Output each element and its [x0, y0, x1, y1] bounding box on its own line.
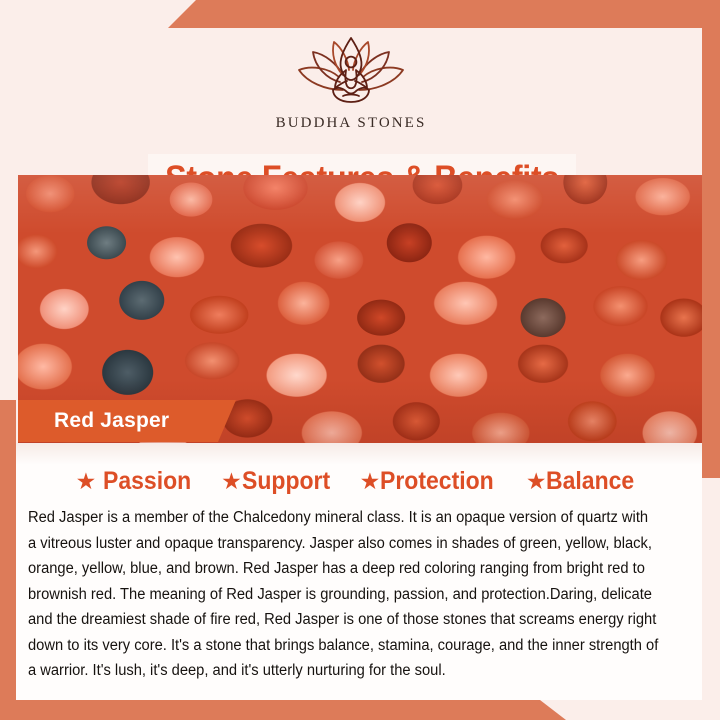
star-icon: ★ [76, 470, 97, 493]
content-section: ★ Passion ★ Support ★ Protection ★ Balan… [16, 443, 702, 700]
benefit-passion: ★ Passion [76, 467, 200, 496]
benefit-protection: ★ Protection [360, 467, 504, 496]
content-top-fade [16, 443, 702, 465]
star-icon: ★ [221, 470, 242, 493]
infographic-page: BUDDHA STONES Stone Features & Benefits … [0, 0, 720, 720]
hero-stone-photo: Red Jasper [18, 175, 702, 443]
benefits-row: ★ Passion ★ Support ★ Protection ★ Balan… [16, 467, 702, 496]
benefit-label: Balance [546, 467, 634, 496]
benefit-label: Support [242, 467, 330, 496]
benefit-balance: ★ Balance [526, 467, 643, 496]
stone-name-label: Red Jasper [54, 409, 169, 433]
brand-logo: BUDDHA STONES [0, 30, 702, 132]
star-icon: ★ [526, 470, 547, 493]
stone-description: Red Jasper is a member of the Chalcedony… [28, 505, 660, 684]
frame-top-bar [0, 0, 720, 28]
benefit-support: ★ Support [221, 467, 337, 496]
stone-name-tag: Red Jasper [18, 400, 236, 442]
frame-bottom-bar [0, 700, 720, 720]
benefit-label: Protection [380, 467, 494, 496]
brand-name: BUDDHA STONES [276, 115, 427, 132]
header-section: BUDDHA STONES Stone Features & Benefits [0, 28, 702, 178]
star-icon: ★ [360, 470, 381, 493]
lotus-meditation-icon [285, 30, 417, 112]
benefit-label: Passion [103, 467, 191, 496]
frame-left-strip [0, 400, 16, 702]
frame-right-strip [702, 0, 720, 478]
